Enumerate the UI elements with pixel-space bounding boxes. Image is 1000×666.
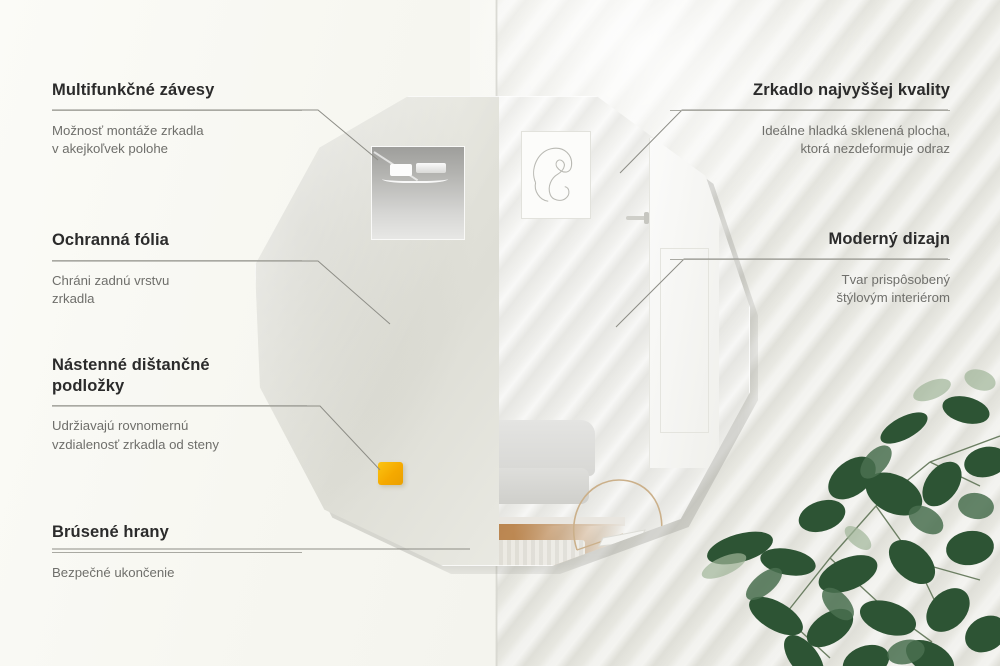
door-handle-icon (626, 216, 646, 220)
feature-nastenne-distancne-podlozky: Nástenné dištančné podložky Udržiavajú r… (52, 355, 307, 455)
feature-title: Ochranná fólia (52, 230, 302, 251)
feature-rule (52, 552, 302, 553)
feature-description: Chráni zadnú vrstvu zrkadla (52, 272, 302, 309)
infographic-canvas: Multifunkčné závesy Možnosť montáže zrka… (0, 0, 1000, 666)
mirror-body (255, 96, 750, 566)
feature-rule (670, 110, 950, 111)
feature-description: Tvar prispôsobený štýlovým interiérom (670, 271, 950, 308)
plant-foliage-icon (680, 366, 1000, 666)
feature-brusene-hrany: Brúsené hrany Bezpečné ukončenie (52, 522, 302, 582)
feature-moderny-dizajn: Moderný dizajn Tvar prispôsobený štýlový… (670, 229, 950, 308)
feature-description: Bezpečné ukončenie (52, 564, 302, 583)
feature-description: Udržiavajú rovnomernú vzdialenosť zrkadl… (52, 417, 307, 454)
feature-ochranna-folia: Ochranná fólia Chráni zadnú vrstvu zrkad… (52, 230, 302, 309)
feature-title: Zrkadlo najvyššej kvality (670, 80, 950, 101)
feature-title: Moderný dizajn (670, 229, 950, 250)
feature-rule (52, 110, 302, 111)
feature-description: Možnosť montáže zrkadla v akejkoľvek pol… (52, 122, 302, 159)
feature-rule (670, 259, 950, 260)
feature-description: Ideálne hladká sklenená plocha, ktorá ne… (670, 122, 950, 159)
poster-line-art-icon (522, 132, 590, 218)
feature-zrkadlo-najvyssej-kvality: Zrkadlo najvyššej kvality Ideálne hladká… (670, 80, 950, 159)
feature-multifunkcne-zavesy: Multifunkčné závesy Možnosť montáže zrka… (52, 80, 302, 159)
bracket-arm (382, 173, 448, 183)
bracket-hook (416, 163, 446, 173)
feature-rule (52, 405, 307, 406)
feature-title: Nástenné dištančné podložky (52, 355, 307, 396)
feature-rule (52, 260, 302, 261)
feature-title: Brúsené hrany (52, 522, 302, 543)
yellow-spacer-pad (378, 462, 403, 485)
mirror-product (255, 96, 750, 566)
decorative-plant (680, 366, 1000, 666)
reflected-poster (521, 131, 591, 219)
arc-lamp-icon (559, 454, 679, 554)
feature-title: Multifunkčné závesy (52, 80, 302, 101)
reflected-arc-floor-lamp (559, 454, 679, 554)
hanging-bracket-inset (372, 147, 464, 239)
